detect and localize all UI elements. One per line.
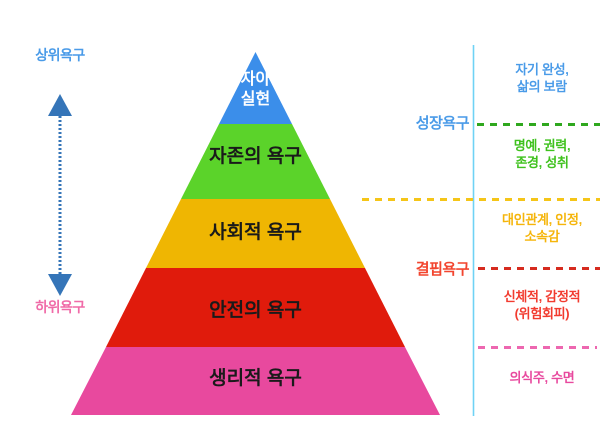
rail-note-esteem: 명예, 권력, 존경, 성취 (477, 138, 607, 171)
rail-note-safety: 신체적, 감정적 (위험회피) (477, 289, 607, 322)
group-label-deficiency-needs: 결핍욕구 (379, 258, 469, 279)
rail-note-social: 대인관계, 인정, 소속감 (477, 212, 607, 245)
rail-note-self-actualization: 자기 완성, 삶의 보람 (477, 62, 607, 95)
diagram-canvas: 상위욕구 하위욕구 자아 실현 자존의 욕구 사회적 욕구 안전의 욕구 생리적… (0, 0, 607, 439)
group-label-growth-needs: 성장욕구 (379, 112, 469, 133)
rail-note-physiological: 의식주, 수면 (477, 370, 607, 387)
